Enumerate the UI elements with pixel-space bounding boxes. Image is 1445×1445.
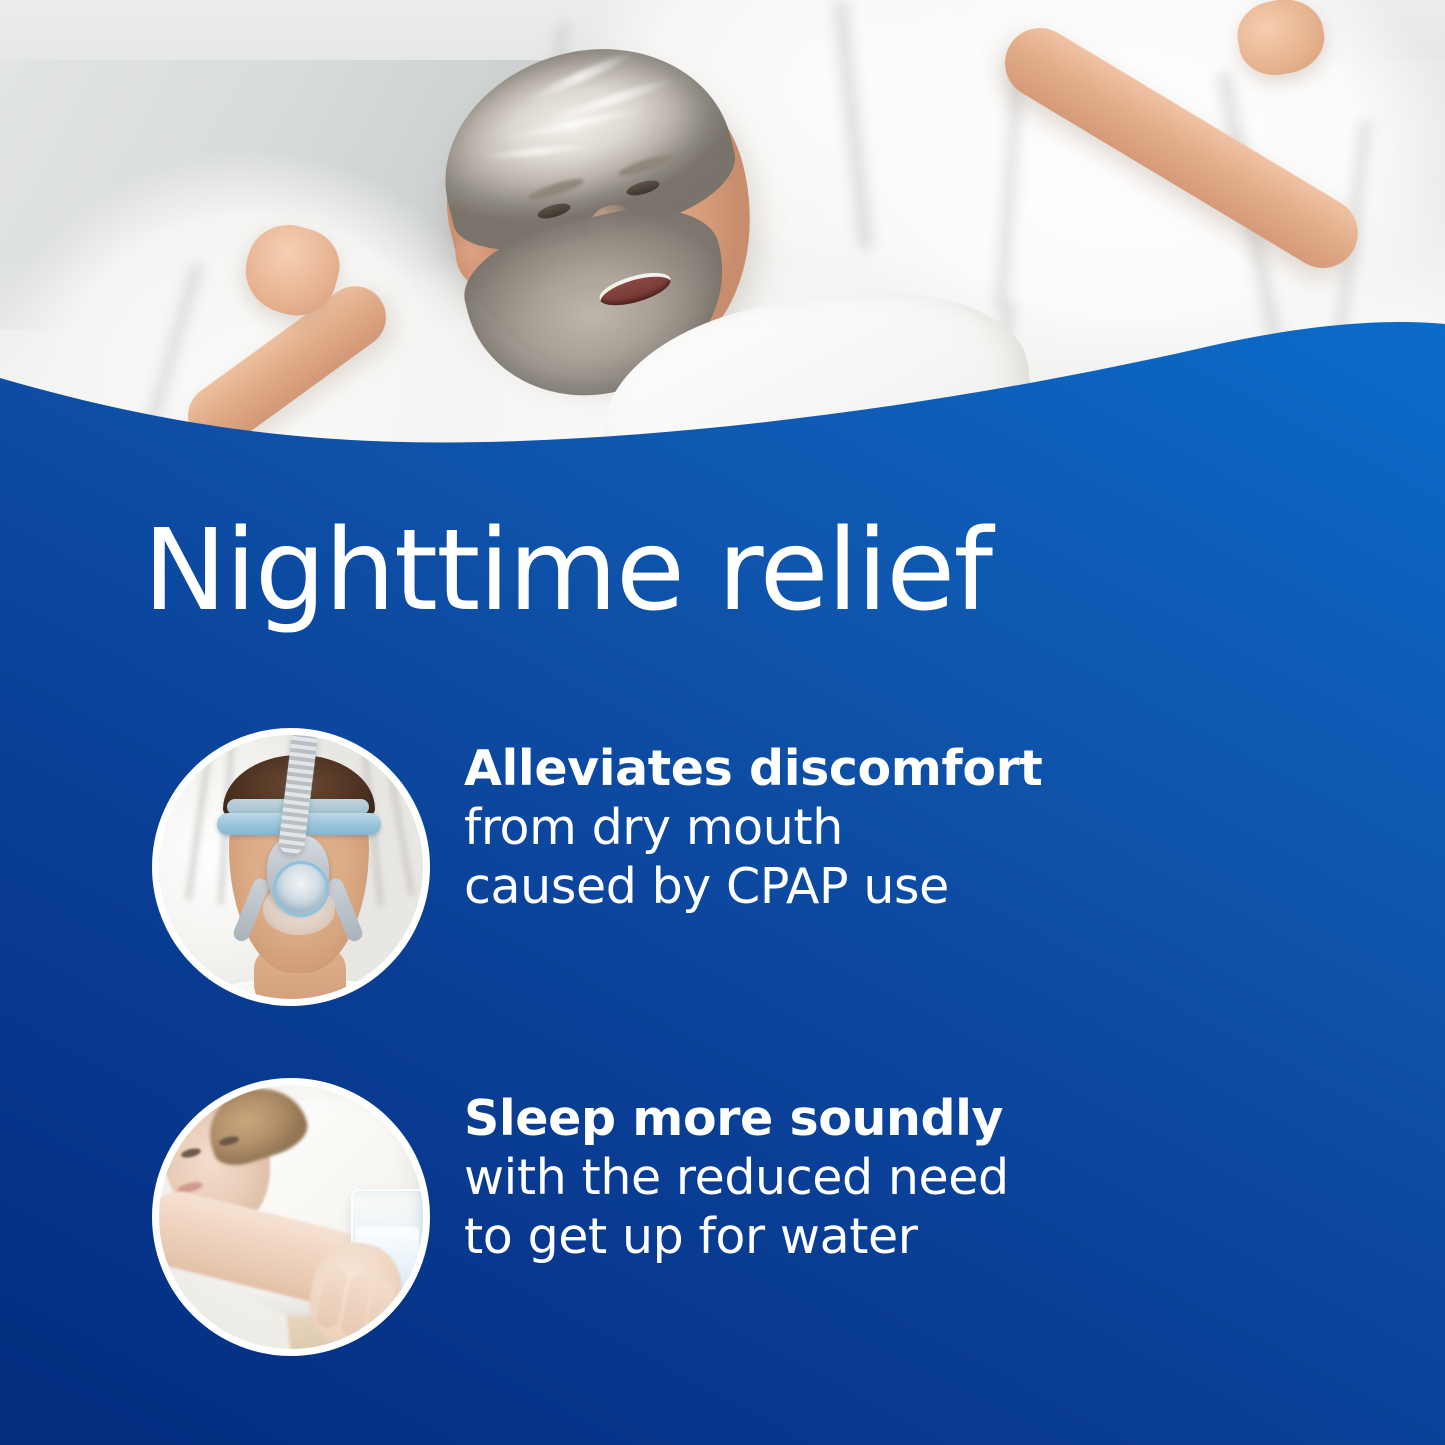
benefit-headline: Sleep more soundly: [464, 1090, 1009, 1149]
benefit-line: caused by CPAP use: [464, 858, 1042, 917]
page-title: Nighttime relief: [143, 513, 1303, 631]
benefit-row-alleviates-discomfort: Alleviates discomfort from dry mouth cau…: [152, 728, 1042, 1006]
benefit-text-sleep-more-soundly: Sleep more soundly with the reduced need…: [464, 1078, 1009, 1266]
cpap-mask-ring: [273, 861, 329, 917]
benefit-thumbnail-cpap-mask: [152, 728, 430, 1006]
marketing-graphic: Nighttime relief: [0, 0, 1445, 1445]
benefit-line: from dry mouth: [464, 799, 1042, 858]
benefit-thumbnail-water-glass: [152, 1078, 430, 1356]
benefit-headline: Alleviates discomfort: [464, 740, 1042, 799]
benefit-row-sleep-more-soundly: Sleep more soundly with the reduced need…: [152, 1078, 1009, 1356]
benefit-line: with the reduced need: [464, 1149, 1009, 1208]
benefit-text-alleviates-discomfort: Alleviates discomfort from dry mouth cau…: [464, 728, 1042, 916]
benefit-line: to get up for water: [464, 1208, 1009, 1267]
